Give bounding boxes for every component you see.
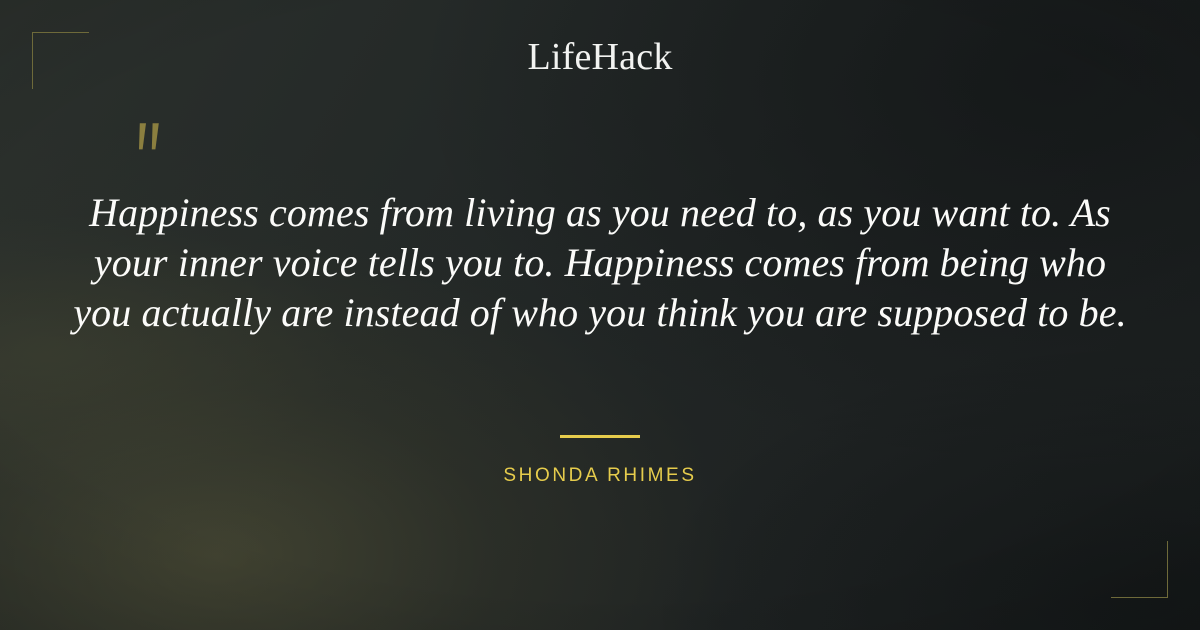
corner-bracket-bottom-right-icon: [1111, 541, 1168, 598]
quote-card: LifeHack Happiness comes from living as …: [0, 0, 1200, 630]
double-quote-icon: [128, 119, 174, 165]
accent-divider: [560, 435, 640, 438]
quote-block: Happiness comes from living as you need …: [60, 188, 1140, 338]
quote-text: Happiness comes from living as you need …: [60, 188, 1140, 338]
lifehack-logo: LifeHack: [0, 38, 1200, 76]
quote-author: SHONDA RHIMES: [0, 465, 1200, 487]
